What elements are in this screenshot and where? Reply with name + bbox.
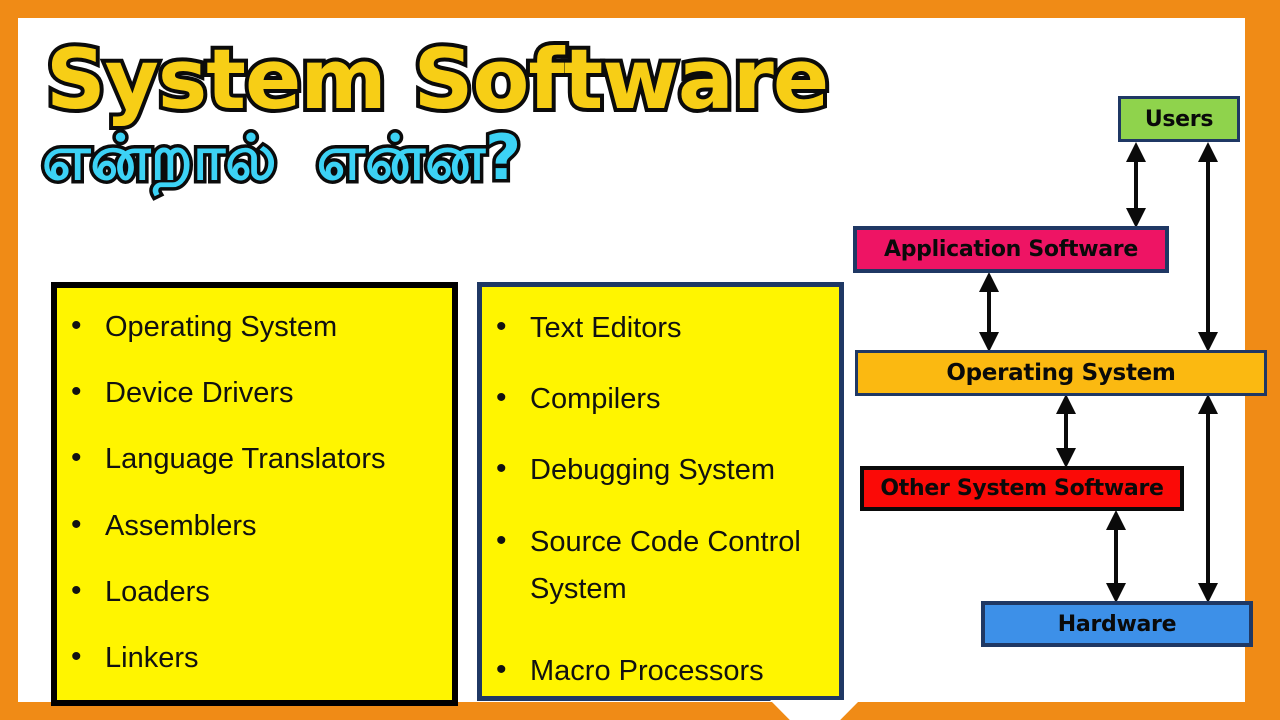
list-item: Compilers xyxy=(482,382,839,416)
list-item: Linkers xyxy=(57,641,452,675)
subtitle-part-2: என்ன? xyxy=(317,121,522,194)
system-software-list-left: Operating System Device Drivers Language… xyxy=(51,282,458,706)
list-item: Text Editors xyxy=(482,311,839,345)
system-software-list-right: Text Editors Compilers Debugging System … xyxy=(477,282,844,701)
list-item: Operating System xyxy=(57,310,452,344)
slide-frame: System Software என்றால்என்ன? Operating S… xyxy=(0,0,1280,720)
page-subtitle: என்றால்என்ன? xyxy=(42,125,858,190)
list-item: Language Translators xyxy=(57,442,452,476)
list-item: Macro Processors xyxy=(482,654,839,688)
slide-canvas: System Software என்றால்என்ன? Operating S… xyxy=(18,18,1245,702)
list-item: Loaders xyxy=(57,575,452,609)
frame-bottom-notch xyxy=(770,700,860,720)
list-item-continuation: System xyxy=(482,572,839,606)
architecture-diagram: Users Application Software Operating Sys… xyxy=(844,48,1274,688)
diagram-node-operating-system: Operating System xyxy=(855,350,1267,396)
list-item: Assemblers xyxy=(57,509,452,543)
list-left: Operating System Device Drivers Language… xyxy=(57,288,452,675)
list-item: Debugging System xyxy=(482,453,839,487)
list-right: Text Editors Compilers Debugging System … xyxy=(482,287,839,688)
subtitle-part-1: என்றால் xyxy=(42,121,277,194)
list-item: Device Drivers xyxy=(57,376,452,410)
headline-block: System Software என்றால்என்ன? xyxy=(28,38,858,190)
page-title: System Software xyxy=(46,38,858,123)
diagram-node-hardware: Hardware xyxy=(981,601,1253,647)
list-item: Source Code Control xyxy=(482,525,839,559)
diagram-node-users: Users xyxy=(1118,96,1240,142)
diagram-node-other-system-software: Other System Software xyxy=(860,466,1184,511)
diagram-node-application-software: Application Software xyxy=(853,226,1169,273)
